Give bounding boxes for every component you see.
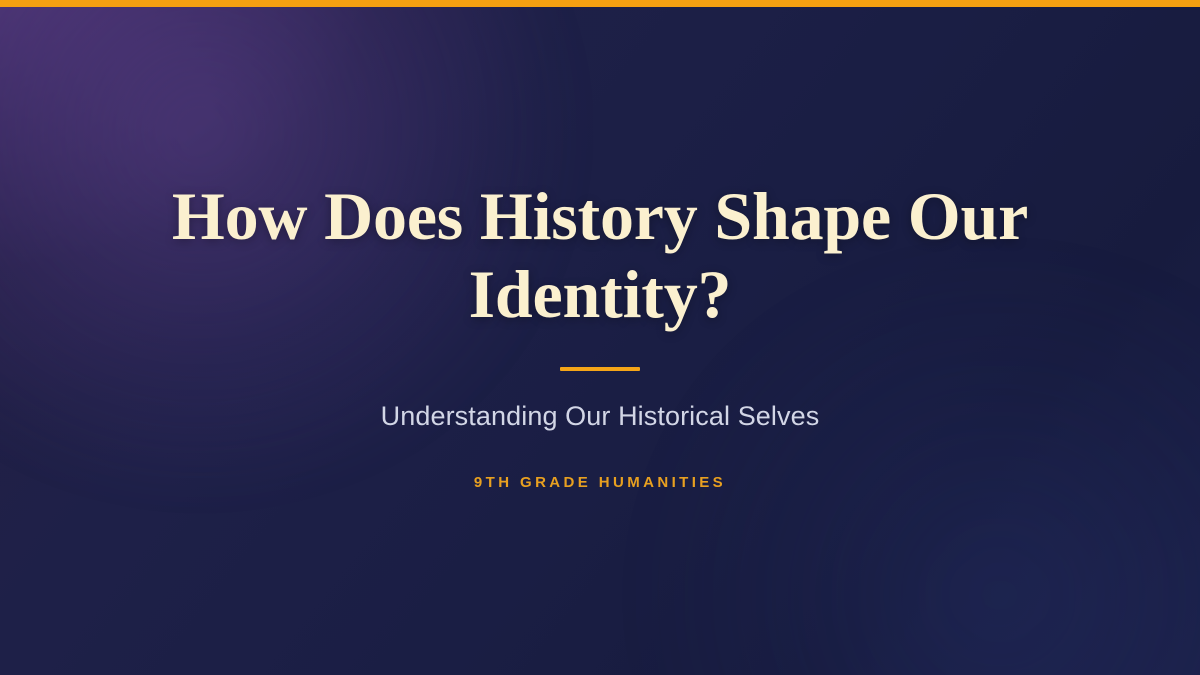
slide-title: How Does History Shape Our Identity? bbox=[170, 178, 1030, 333]
slide-content: How Does History Shape Our Identity? Und… bbox=[0, 178, 1200, 492]
gold-divider bbox=[560, 367, 640, 371]
top-accent-bar bbox=[0, 0, 1200, 7]
title-slide: How Does History Shape Our Identity? Und… bbox=[0, 0, 1200, 675]
slide-subtitle: Understanding Our Historical Selves bbox=[96, 399, 1104, 434]
course-label: 9TH GRADE HUMANITIES bbox=[96, 474, 1104, 492]
